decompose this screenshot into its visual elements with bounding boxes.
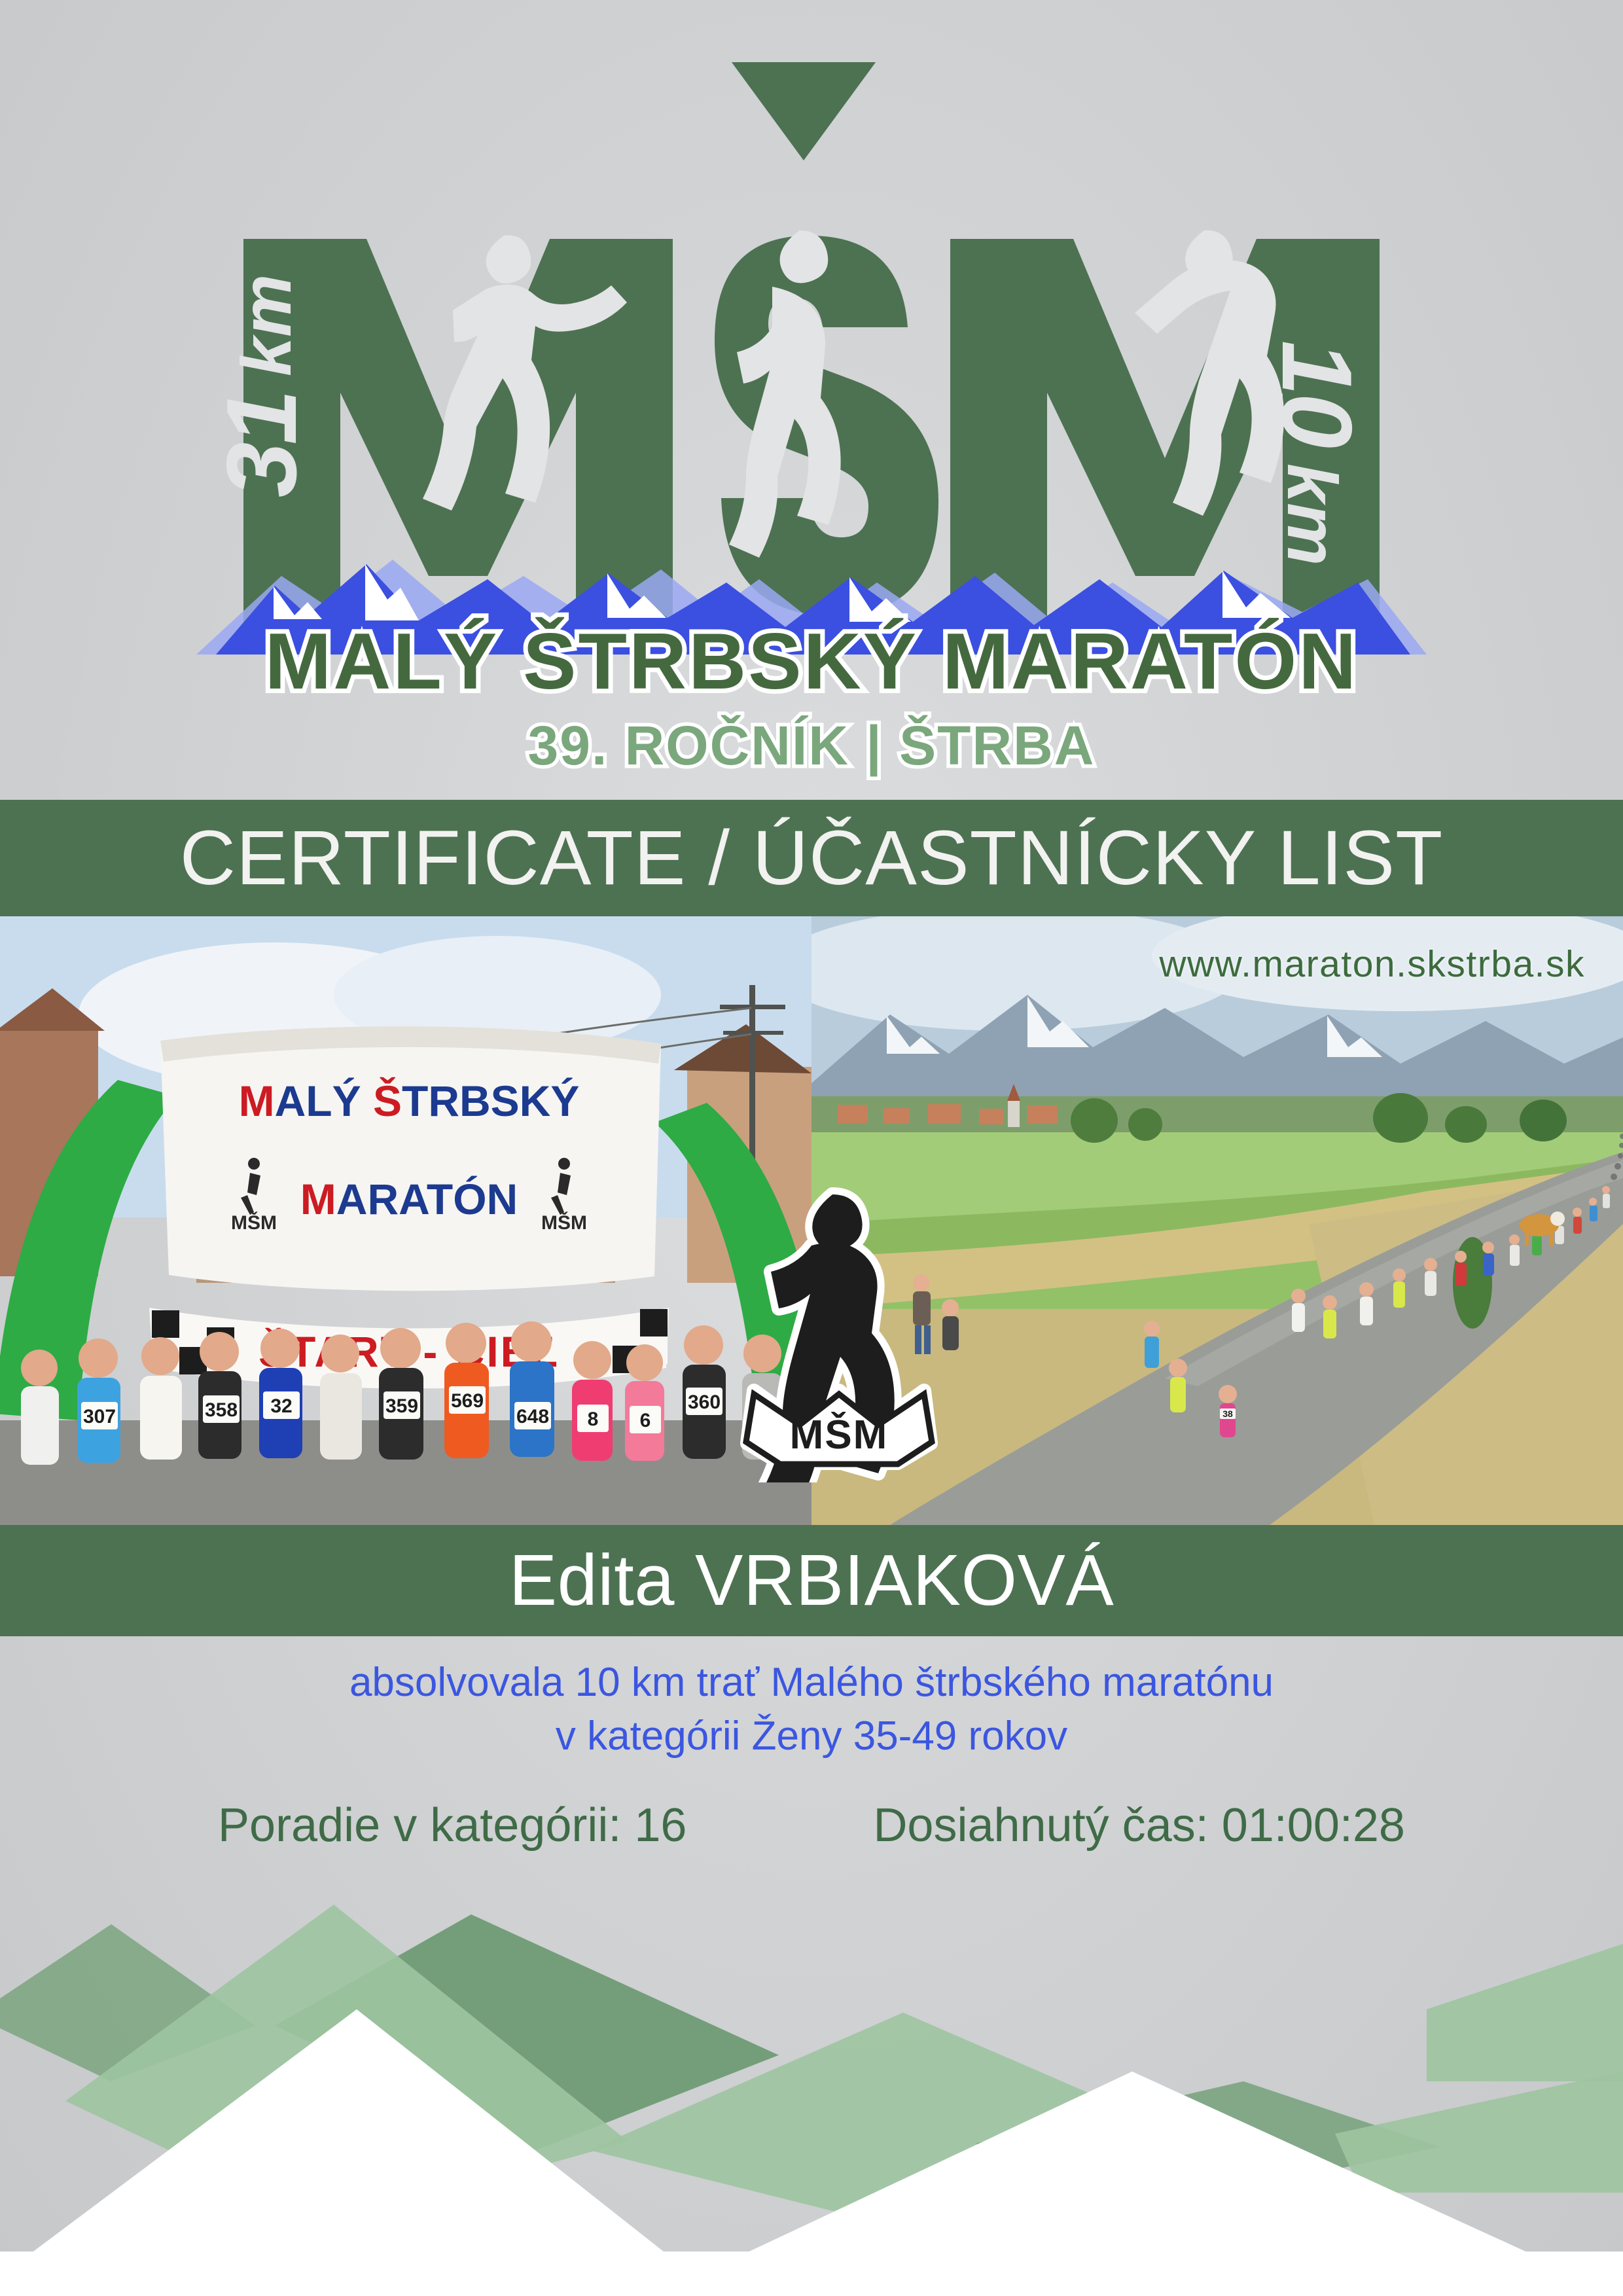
bib-number: 569 [451, 1390, 484, 1412]
participant-description: absolvovala 10 km trať Malého štrbského … [0, 1656, 1623, 1764]
description-line-2: v kategórii Ženy 35-49 rokov [0, 1710, 1623, 1763]
svg-text:MŠM: MŠM [541, 1211, 587, 1234]
arch-title-line1: MALÝ ŠTRBSKÝ [239, 1077, 580, 1125]
rank-in-category: Poradie v kategórii: 16 [218, 1799, 687, 1852]
bib-number: 307 [83, 1406, 116, 1427]
start-line-illustration: MALÝ ŠTRBSKÝ MARATÓN MŠM MŠM [0, 916, 811, 1525]
website-url: www.maraton.skstrba.sk [1159, 942, 1585, 986]
results-row: Poradie v kategórii: 16 Dosiahnutý čas: … [0, 1799, 1623, 1852]
svg-text:km: km [1273, 463, 1352, 565]
msm-badge-label: MŠM [790, 1412, 889, 1458]
bib-number: 8 [588, 1408, 599, 1430]
bib-number: 32 [270, 1395, 292, 1417]
description-line-1: absolvovala 10 km trať Malého štrbského … [0, 1656, 1623, 1710]
achieved-time: Dosiahnutý čas: 01:00:28 [873, 1799, 1405, 1852]
logo-graphic: 31 km 10 km MALÝ ŠTRBSKÝ MARATÓN 39. [0, 0, 1623, 795]
bib-number: 6 [640, 1410, 651, 1431]
svg-text:10: 10 [1261, 340, 1372, 448]
bib-number: 648 [516, 1406, 549, 1427]
logo-event-name: MALÝ ŠTRBSKÝ MARATÓN [265, 617, 1359, 706]
msm-runner-badge: MŠM [734, 1175, 944, 1482]
participant-name: Edita VRBIAKOVÁ [509, 1545, 1115, 1617]
event-logo: 31 km 10 km MALÝ ŠTRBSKÝ MARATÓN 39. [0, 0, 1623, 795]
bib-number: 38 [1222, 1408, 1233, 1419]
photo-start-line: MALÝ ŠTRBSKÝ MARATÓN MŠM MŠM [0, 916, 811, 1525]
logo-edition-line: 39. ROČNÍK | ŠTRBA [528, 715, 1096, 777]
certificate-title-bar: CERTIFICATE / ÚČASTNÍCKY LIST [0, 800, 1623, 916]
footer: V Štrbe 10. júla 2016 Obec Štrba [0, 2022, 1623, 2296]
svg-text:km: km [226, 274, 306, 376]
bib-number: 358 [205, 1399, 238, 1421]
svg-text:MŠM: MŠM [231, 1211, 277, 1234]
bib-number: 359 [385, 1395, 418, 1417]
arch-title-line2: MARATÓN [300, 1175, 518, 1223]
certificate-page: 31 km 10 km MALÝ ŠTRBSKÝ MARATÓN 39. [0, 0, 1623, 2296]
bib-number: 360 [688, 1391, 721, 1413]
participant-name-bar: Edita VRBIAKOVÁ [0, 1525, 1623, 1636]
certificate-title: CERTIFICATE / ÚČASTNÍCKY LIST [180, 819, 1443, 897]
svg-text:31: 31 [206, 392, 317, 497]
